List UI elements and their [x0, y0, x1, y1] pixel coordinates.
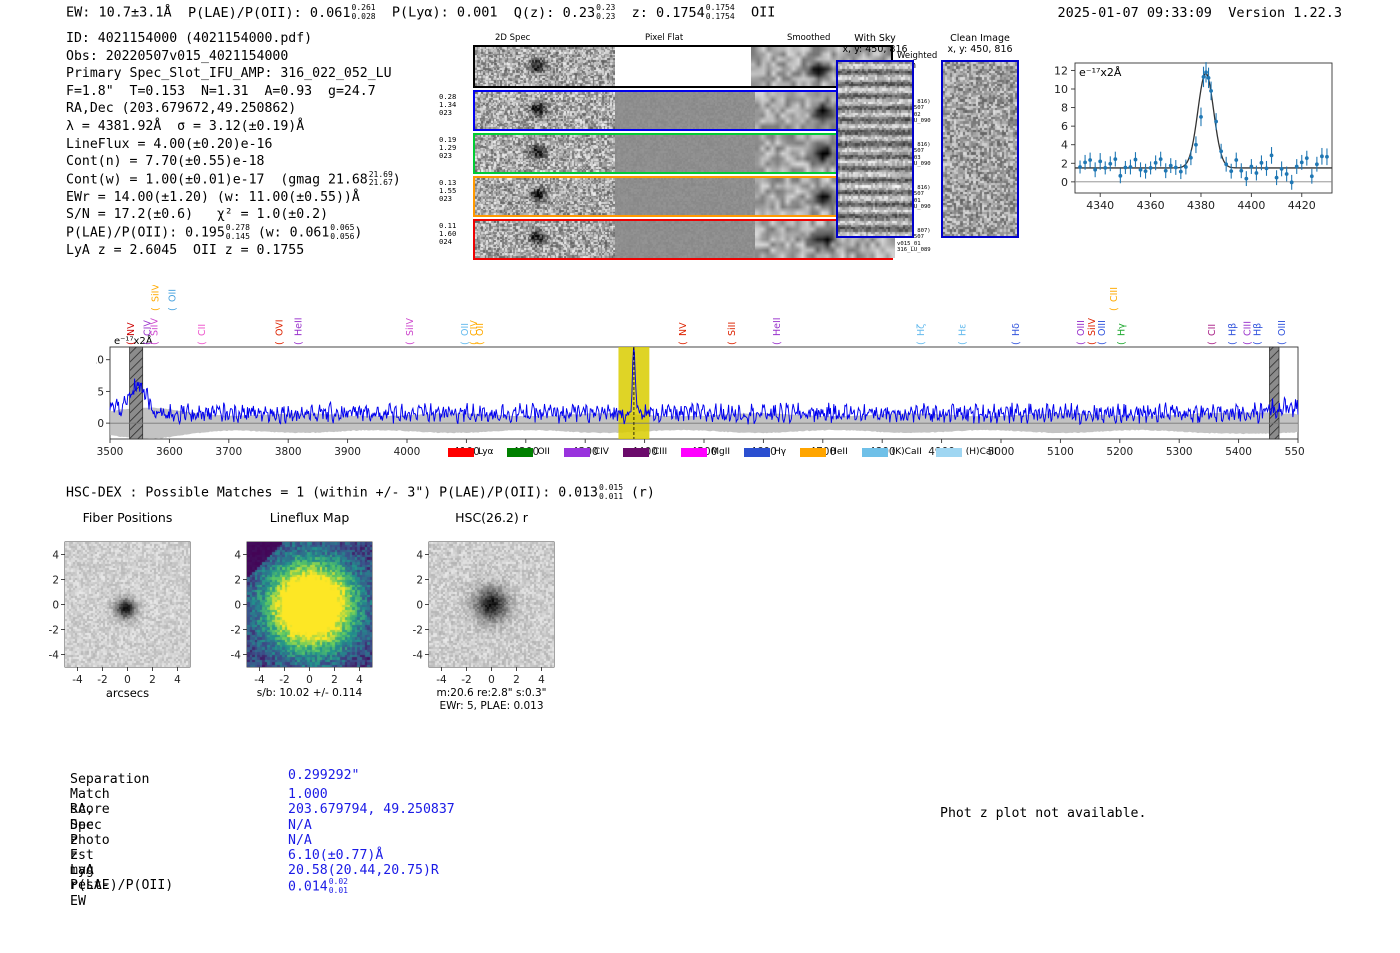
svg-text:8: 8: [1061, 102, 1068, 115]
header-part-1: P(LAE)/P(OII): 0.0610.2610.028: [188, 5, 376, 21]
svg-text:(: (: [1253, 341, 1264, 345]
svg-text:(: (: [475, 341, 486, 345]
info-line-11: P(LAE)/P(OII): 0.1950.2780.145 (w: 0.061…: [66, 224, 401, 242]
line-marker-3: SiIV (: [151, 285, 162, 302]
svg-text:-4: -4: [436, 674, 447, 686]
spectra-montage: 2D SpecPixel FlatSmoothed0.281.340230.51…: [455, 33, 795, 248]
header-part-5: OII: [751, 5, 775, 21]
panel-title-lineflux-map: Lineflux Map: [222, 510, 397, 525]
cutout-title-1: Clean Imagex, y: 450, 816: [925, 33, 1035, 55]
spec-row-left-labels-2: 0.191.29023: [439, 136, 456, 161]
svg-text:5200: 5200: [1106, 446, 1133, 458]
photoz-unavailable-message: Phot z plot not available.: [940, 806, 1146, 821]
line-marker-24: Hβ: [1228, 323, 1239, 336]
header-part-2: P(Lyα): 0.001: [392, 5, 498, 21]
header-part-4: z: 0.17540.17540.1754: [632, 5, 735, 21]
sup-sub-fraction: 0.0150.011: [599, 484, 623, 501]
line-marker-18: OIII: [1076, 320, 1087, 336]
svg-text:(: (: [293, 341, 304, 345]
timestamp: 2025-01-07 09:33:09: [1058, 5, 1212, 21]
legend-swatch: [623, 448, 649, 457]
line-marker-6: OVI: [274, 319, 285, 336]
sup-sub-fraction: 0.020.01: [329, 878, 348, 895]
pixel-flat-image: [615, 47, 751, 86]
line-marker-5: CII: [197, 324, 208, 336]
legend-swatch: [448, 448, 474, 457]
legend-label: CIII: [653, 447, 667, 457]
cutout-title-0: With Skyx, y: 450, 816: [820, 33, 930, 55]
svg-text:0: 0: [416, 600, 423, 612]
line-marker-15: Hζ: [916, 324, 927, 336]
table-key: mag: [70, 863, 94, 878]
legend-item-5: Hγ: [744, 447, 786, 457]
svg-text:10: 10: [1054, 83, 1068, 96]
info-line-4: RA,Dec (203.679672,49.250862): [66, 100, 401, 118]
panel-image-lineflux-map: [247, 542, 372, 667]
svg-text:(: (: [1207, 341, 1218, 345]
svg-text:4420: 4420: [1288, 199, 1316, 212]
header-part-0: EW: 10.7±3.1Å: [66, 5, 172, 21]
svg-text:2: 2: [234, 575, 241, 587]
line-marker-11: OII: [475, 323, 486, 336]
full-spectrum-plot: 3500360037003800390040004100420043004400…: [96, 285, 1304, 465]
legend-item-7: (K)CaII: [862, 447, 922, 457]
svg-text:(: (: [151, 307, 162, 311]
svg-text:6: 6: [1061, 120, 1068, 133]
svg-text:2: 2: [331, 674, 338, 686]
svg-text:(: (: [727, 341, 738, 345]
spec-2d-image: [475, 178, 615, 215]
svg-text:3700: 3700: [215, 446, 242, 458]
info-line-0: ID: 4021154000 (4021154000.pdf): [66, 30, 401, 48]
legend-swatch: [564, 448, 590, 457]
panel-title-hsc-r-image: HSC(26.2) r: [404, 510, 579, 525]
svg-text:3800: 3800: [275, 446, 302, 458]
cutout-image-1: [941, 60, 1019, 238]
svg-text:4: 4: [234, 550, 241, 562]
info-line-6: LineFlux = 4.00(±0.20)e-16: [66, 136, 401, 154]
svg-text:5400: 5400: [1225, 446, 1252, 458]
svg-text:(: (: [678, 341, 689, 345]
line-marker-14: HeII: [772, 317, 783, 336]
pixel-flat-image: [615, 92, 755, 129]
table-value: N/A: [288, 818, 312, 833]
emission-line-zoom-svg: 43404360438044004420024681012e⁻¹⁷x2Å: [1035, 55, 1340, 225]
panel-caption-hsc-r-image: m:20.6 re:2.8" s:0.3"EWr: 5, PLAE: 0.013: [389, 687, 594, 713]
line-marker-26: Hβ: [1253, 323, 1264, 336]
legend-swatch: [681, 448, 707, 457]
table-value: 1.000: [288, 787, 328, 802]
svg-text:-2: -2: [279, 674, 289, 686]
legend-item-1: OII: [507, 447, 549, 457]
line-marker-16: Hε: [957, 324, 968, 336]
svg-text:(: (: [1228, 341, 1239, 345]
table-value: 0.299292": [288, 768, 359, 783]
info-line-3: F=1.8" T=0.153 N=1.31 A=0.93 g=24.7: [66, 83, 401, 101]
svg-text:3900: 3900: [334, 446, 361, 458]
svg-text:(: (: [772, 341, 783, 345]
svg-text:4: 4: [416, 550, 423, 562]
pixel-flat-image: [615, 221, 755, 258]
line-marker-12: NV: [678, 322, 689, 336]
svg-text:(: (: [1109, 307, 1120, 311]
svg-text:4: 4: [356, 674, 363, 686]
sup-sub-fraction: 0.17540.1754: [706, 4, 735, 21]
panel-xlabel-fiber-positions: arcsecs: [106, 686, 149, 697]
line-marker-27: OIII: [1277, 320, 1288, 336]
bottom-image-panels: Fiber Positions-4-4-2-2002244NEarcsecsLi…: [55, 510, 655, 740]
svg-text:4400: 4400: [1237, 199, 1265, 212]
info-line-12: LyA z = 2.6045 OII z = 0.1755: [66, 242, 401, 260]
panel-image-hsc-r-image: [429, 542, 554, 667]
legend-label: Lyα: [478, 447, 493, 457]
svg-text:5100: 5100: [1047, 446, 1074, 458]
svg-text:0: 0: [97, 418, 104, 430]
spectrum-line-legend: LyαOIICIVCIIIMgIIHγHeII(K)CaII(H)CaII: [448, 447, 997, 457]
hscdex-match-header: HSC-DEX : Possible Matches = 1 (within +…: [66, 484, 655, 501]
legend-swatch: [507, 448, 533, 457]
sup-sub-fraction: 0.0650.056: [330, 224, 354, 241]
zoomplot-flux-unit-annotation: e⁻¹⁷x2Å: [1079, 66, 1122, 79]
line-marker-21: Hγ: [1117, 323, 1128, 336]
svg-text:0: 0: [234, 600, 241, 612]
svg-text:5300: 5300: [1166, 446, 1193, 458]
info-line-8: Cont(w) = 1.00(±0.01)e-17 (gmag 21.6821.…: [66, 171, 401, 189]
legend-item-3: CIII: [623, 447, 667, 457]
header-summary-line: EW: 10.7±3.1Å P(LAE)/P(OII): 0.0610.2610…: [66, 4, 792, 21]
svg-text:2: 2: [1061, 157, 1068, 170]
spectrum-masked-band-0: [130, 347, 143, 439]
line-marker-8: SiIV: [405, 318, 416, 336]
svg-text:(: (: [957, 341, 968, 345]
legend-swatch: [800, 448, 826, 457]
spec-2d-image: [475, 92, 615, 129]
svg-text:2: 2: [52, 575, 59, 587]
svg-text:4360: 4360: [1137, 199, 1165, 212]
svg-text:-2: -2: [413, 625, 423, 637]
svg-text:(: (: [1117, 341, 1128, 345]
svg-text:(: (: [1277, 341, 1288, 345]
table-key: Separation: [70, 772, 149, 787]
legend-item-6: HeII: [800, 447, 848, 457]
spec-row-left-labels-3: 0.131.55023: [439, 179, 456, 204]
svg-text:2: 2: [149, 674, 156, 686]
svg-text:12: 12: [1054, 64, 1068, 77]
svg-text:-4: -4: [49, 650, 60, 662]
svg-text:0: 0: [488, 674, 495, 686]
info-line-1: Obs: 20220507v015_4021154000: [66, 48, 401, 66]
pixel-flat-image: [615, 178, 755, 215]
svg-text:-4: -4: [72, 674, 83, 686]
legend-label: (H)CaII: [966, 447, 997, 457]
header-timestamp-version: 2025-01-07 09:33:09 Version 1.22.3: [1058, 5, 1343, 21]
panel-image-fiber-positions: [65, 542, 190, 667]
emission-line-zoom-plot: 43404360438044004420024681012e⁻¹⁷x2Å: [1035, 55, 1340, 225]
svg-text:4: 4: [174, 674, 181, 686]
svg-text:-2: -2: [231, 625, 241, 637]
full-spectrum-svg: 3500360037003800390040004100420043004400…: [96, 285, 1304, 465]
line-marker-7: HeII: [293, 317, 304, 336]
line-marker-13: SiII: [727, 322, 738, 336]
svg-text:3500: 3500: [97, 446, 124, 458]
spectrum-line-markers: (NV(CIV(SiIV(SiIV ((OII ((CII(OVI(HeII(S…: [126, 285, 1288, 345]
legend-item-2: CIV: [564, 447, 609, 457]
svg-text:3600: 3600: [156, 446, 183, 458]
info-line-2: Primary Spec_Slot_IFU_AMP: 316_022_052_L…: [66, 65, 401, 83]
legend-swatch: [936, 448, 962, 457]
legend-swatch: [744, 448, 770, 457]
line-marker-0: NV: [126, 322, 137, 336]
svg-text:10: 10: [96, 355, 104, 367]
info-line-9: EWr = 14.00(±1.20) (w: 11.00(±0.55))Å: [66, 189, 401, 207]
spectrum-masked-band-1: [1269, 347, 1279, 439]
info-line-7: Cont(n) = 7.70(±0.55)e-18: [66, 153, 401, 171]
panel-caption-lineflux-map: s/b: 10.02 +/- 0.114: [207, 687, 412, 700]
svg-text:4340: 4340: [1086, 199, 1114, 212]
svg-text:(: (: [126, 341, 137, 345]
legend-item-0: Lyα: [448, 447, 493, 457]
sup-sub-fraction: 0.230.23: [596, 4, 615, 21]
table-key: P(LAE)/P(OII): [70, 878, 173, 893]
sup-sub-fraction: 0.2610.028: [352, 4, 376, 21]
spec-row-left-labels-4: 0.111.60024: [439, 222, 456, 247]
cutout-image-0: [836, 60, 914, 238]
detection-info-block: ID: 4021154000 (4021154000.pdf)Obs: 2022…: [66, 30, 401, 260]
svg-text:-4: -4: [254, 674, 265, 686]
line-marker-23: CII: [1207, 324, 1218, 336]
svg-text:(: (: [274, 341, 285, 345]
table-value: 6.10(±0.77)Å: [288, 848, 383, 863]
svg-text:0: 0: [1061, 176, 1068, 189]
legend-label: MgII: [711, 447, 730, 457]
svg-text:0: 0: [52, 600, 59, 612]
version-label: Version 1.22.3: [1228, 5, 1342, 21]
legend-item-8: (H)CaII: [936, 447, 997, 457]
svg-text:0: 0: [124, 674, 131, 686]
svg-text:-2: -2: [97, 674, 107, 686]
svg-text:(: (: [1076, 341, 1087, 345]
svg-text:5: 5: [97, 386, 104, 398]
line-marker-2: SiIV: [150, 318, 161, 336]
svg-text:5500: 5500: [1285, 446, 1304, 458]
svg-text:4380: 4380: [1187, 199, 1215, 212]
svg-text:(: (: [167, 307, 178, 311]
svg-text:-4: -4: [413, 650, 424, 662]
table-value: 0.0140.020.01: [288, 878, 348, 895]
sup-sub-fraction: 0.2780.145: [226, 224, 250, 241]
panel-title-fiber-positions: Fiber Positions: [40, 510, 215, 525]
line-marker-20: OIII: [1097, 320, 1108, 336]
sup-sub-fraction: 21.6921.67: [369, 171, 393, 188]
legend-swatch: [862, 448, 888, 457]
svg-text:(: (: [1097, 341, 1108, 345]
svg-text:4000: 4000: [394, 446, 421, 458]
svg-text:(: (: [405, 341, 416, 345]
table-value: 203.679794, 49.250837: [288, 802, 455, 817]
svg-text:(: (: [916, 341, 927, 345]
svg-text:-2: -2: [461, 674, 471, 686]
spec-2d-image: [475, 47, 615, 86]
svg-text:2: 2: [416, 575, 423, 587]
svg-text:2: 2: [513, 674, 520, 686]
line-marker-17: Hδ: [1011, 323, 1022, 336]
legend-label: CIV: [594, 447, 609, 457]
svg-text:4: 4: [538, 674, 545, 686]
svg-text:-2: -2: [49, 625, 59, 637]
svg-text:(: (: [150, 341, 161, 345]
info-line-10: S/N = 17.2(±0.6) χ² = 1.0(±0.2): [66, 206, 401, 224]
spec-2d-image: [475, 221, 615, 258]
montage-column-title-1: Pixel Flat: [645, 33, 683, 43]
legend-label: (K)CaII: [892, 447, 922, 457]
legend-label: Hγ: [774, 447, 786, 457]
line-marker-22: CIII (: [1109, 285, 1120, 302]
svg-text:4: 4: [1061, 139, 1068, 152]
table-value: N/A: [288, 833, 312, 848]
table-value: 20.58(20.44,20.75)R: [288, 863, 439, 878]
svg-text:0: 0: [306, 674, 313, 686]
svg-text:(: (: [1011, 341, 1022, 345]
legend-item-4: MgII: [681, 447, 730, 457]
pixel-flat-image: [615, 135, 755, 172]
spec-row-left-labels-1: 0.281.34023: [439, 93, 456, 118]
svg-text:4: 4: [52, 550, 59, 562]
legend-label: HeII: [830, 447, 848, 457]
montage-column-title-0: 2D Spec: [495, 33, 530, 43]
spec-2d-image: [475, 135, 615, 172]
info-line-5: λ = 4381.92Å σ = 3.12(±0.19)Å: [66, 118, 401, 136]
svg-text:-4: -4: [231, 650, 242, 662]
header-part-3: Q(z): 0.230.230.23: [514, 5, 616, 21]
line-marker-4: OII (: [167, 285, 178, 302]
legend-label: OII: [537, 447, 549, 457]
image-cutouts: With Skyx, y: 450, 816Clean Imagex, y: 4…: [820, 33, 1025, 248]
svg-text:(: (: [197, 341, 208, 345]
